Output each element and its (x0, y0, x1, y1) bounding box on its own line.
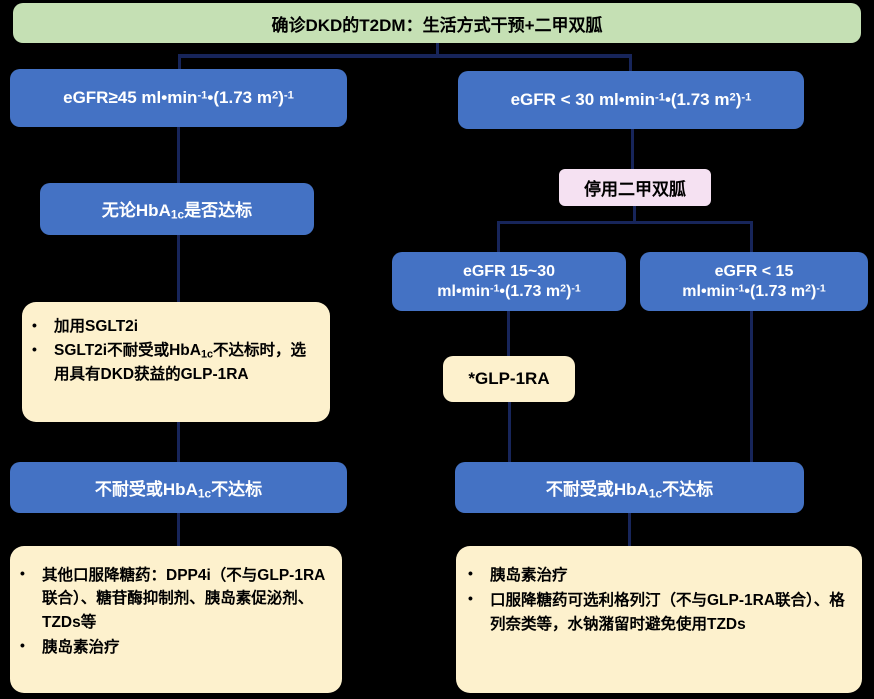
connector-horizontal-split (178, 54, 632, 58)
list-item: 胰岛素治疗 (16, 636, 332, 659)
connector-left-to-hba1c (177, 127, 180, 183)
connector-intolerant-left-to-bottom (177, 513, 180, 546)
header-label: 确诊DKD的T2DM：生活方式干预+二甲双胍 (271, 11, 602, 36)
regardless-hba1c-label: 无论HbA1c是否达标 (102, 196, 252, 222)
node-bottom-right-treatment-box: 胰岛素治疗 口服降糖药可选利格列汀（不与GLP-1RA联合）、格列奈类等，水钠潴… (456, 546, 862, 693)
node-left-treatment-box: 加用SGLT2i SGLT2i不耐受或HbA1c不达标时，选用具有DKD获益的G… (22, 302, 330, 422)
connector-down-right (629, 54, 632, 71)
intolerant-left-label: 不耐受或HbA1c不达标 (95, 475, 262, 501)
node-bottom-left-treatment-box: 其他口服降糖药：DPP4i（不与GLP-1RA联合）、糖苷酶抑制剂、胰岛素促泌剂… (10, 546, 342, 693)
node-regardless-hba1c: 无论HbA1c是否达标 (40, 183, 314, 235)
node-egfr-ge-45: eGFR≥45 ml•min-1•(1.73 m2)-1 (10, 69, 347, 127)
intolerant-right-label: 不耐受或HbA1c不达标 (546, 475, 713, 501)
connector-split-15-30-lt15 (497, 221, 753, 224)
connector-lt15-to-intolerant-right (750, 311, 753, 462)
glp1ra-note-label: *GLP-1RA (468, 369, 549, 389)
node-egfr-lt-30: eGFR < 30 ml•min-1•(1.73 m2)-1 (458, 71, 804, 129)
bottom-right-treatment-list: 胰岛素治疗 口服降糖药可选利格列汀（不与GLP-1RA联合）、格列奈类等，水钠潴… (464, 564, 848, 636)
connector-15-30-to-glp1ra (507, 311, 510, 356)
egfr-ge45-label: eGFR≥45 ml•min-1•(1.73 m2)-1 (63, 88, 294, 108)
connector-intolerant-right-to-bottom (628, 513, 631, 546)
connector-glp1ra-to-intolerant-right (508, 402, 511, 462)
node-intolerant-right: 不耐受或HbA1c不达标 (455, 462, 804, 513)
list-item: SGLT2i不耐受或HbA1c不达标时，选用具有DKD获益的GLP-1RA (28, 340, 318, 386)
left-treatment-list: 加用SGLT2i SGLT2i不耐受或HbA1c不达标时，选用具有DKD获益的G… (28, 316, 318, 386)
flowchart-canvas: 确诊DKD的T2DM：生活方式干预+二甲双胍 eGFR≥45 ml•min-1•… (0, 0, 874, 699)
node-glp1ra-note: *GLP-1RA (443, 356, 575, 402)
connector-down-left (178, 54, 181, 69)
list-item: 其他口服降糖药：DPP4i（不与GLP-1RA联合）、糖苷酶抑制剂、胰岛素促泌剂… (16, 564, 332, 634)
connector-hba1c-to-sglt2-box (177, 235, 180, 302)
bottom-left-treatment-list: 其他口服降糖药：DPP4i（不与GLP-1RA联合）、糖苷酶抑制剂、胰岛素促泌剂… (16, 564, 332, 659)
node-header-diagnosis: 确诊DKD的T2DM：生活方式干预+二甲双胍 (13, 3, 861, 43)
connector-right-to-stop-metformin (631, 129, 634, 169)
node-egfr-15-30: eGFR 15~30ml•min-1•(1.73 m2)-1 (392, 252, 626, 311)
stop-metformin-label: 停用二甲双胍 (584, 175, 686, 200)
list-item: 口服降糖药可选利格列汀（不与GLP-1RA联合）、格列奈类等，水钠潴留时避免使用… (464, 589, 848, 636)
list-item: 加用SGLT2i (28, 316, 318, 338)
node-intolerant-left: 不耐受或HbA1c不达标 (10, 462, 347, 513)
connector-down-15-30 (497, 221, 500, 252)
egfr-15-30-label: eGFR 15~30ml•min-1•(1.73 m2)-1 (437, 262, 580, 302)
list-item: 胰岛素治疗 (464, 564, 848, 587)
node-egfr-lt-15: eGFR < 15ml•min-1•(1.73 m2)-1 (640, 252, 868, 311)
egfr-lt15-label: eGFR < 15ml•min-1•(1.73 m2)-1 (682, 262, 825, 302)
node-stop-metformin: 停用二甲双胍 (559, 169, 711, 206)
connector-left-box-to-intolerant (177, 422, 180, 462)
egfr-lt30-label: eGFR < 30 ml•min-1•(1.73 m2)-1 (511, 90, 752, 110)
connector-down-lt15 (750, 221, 753, 252)
